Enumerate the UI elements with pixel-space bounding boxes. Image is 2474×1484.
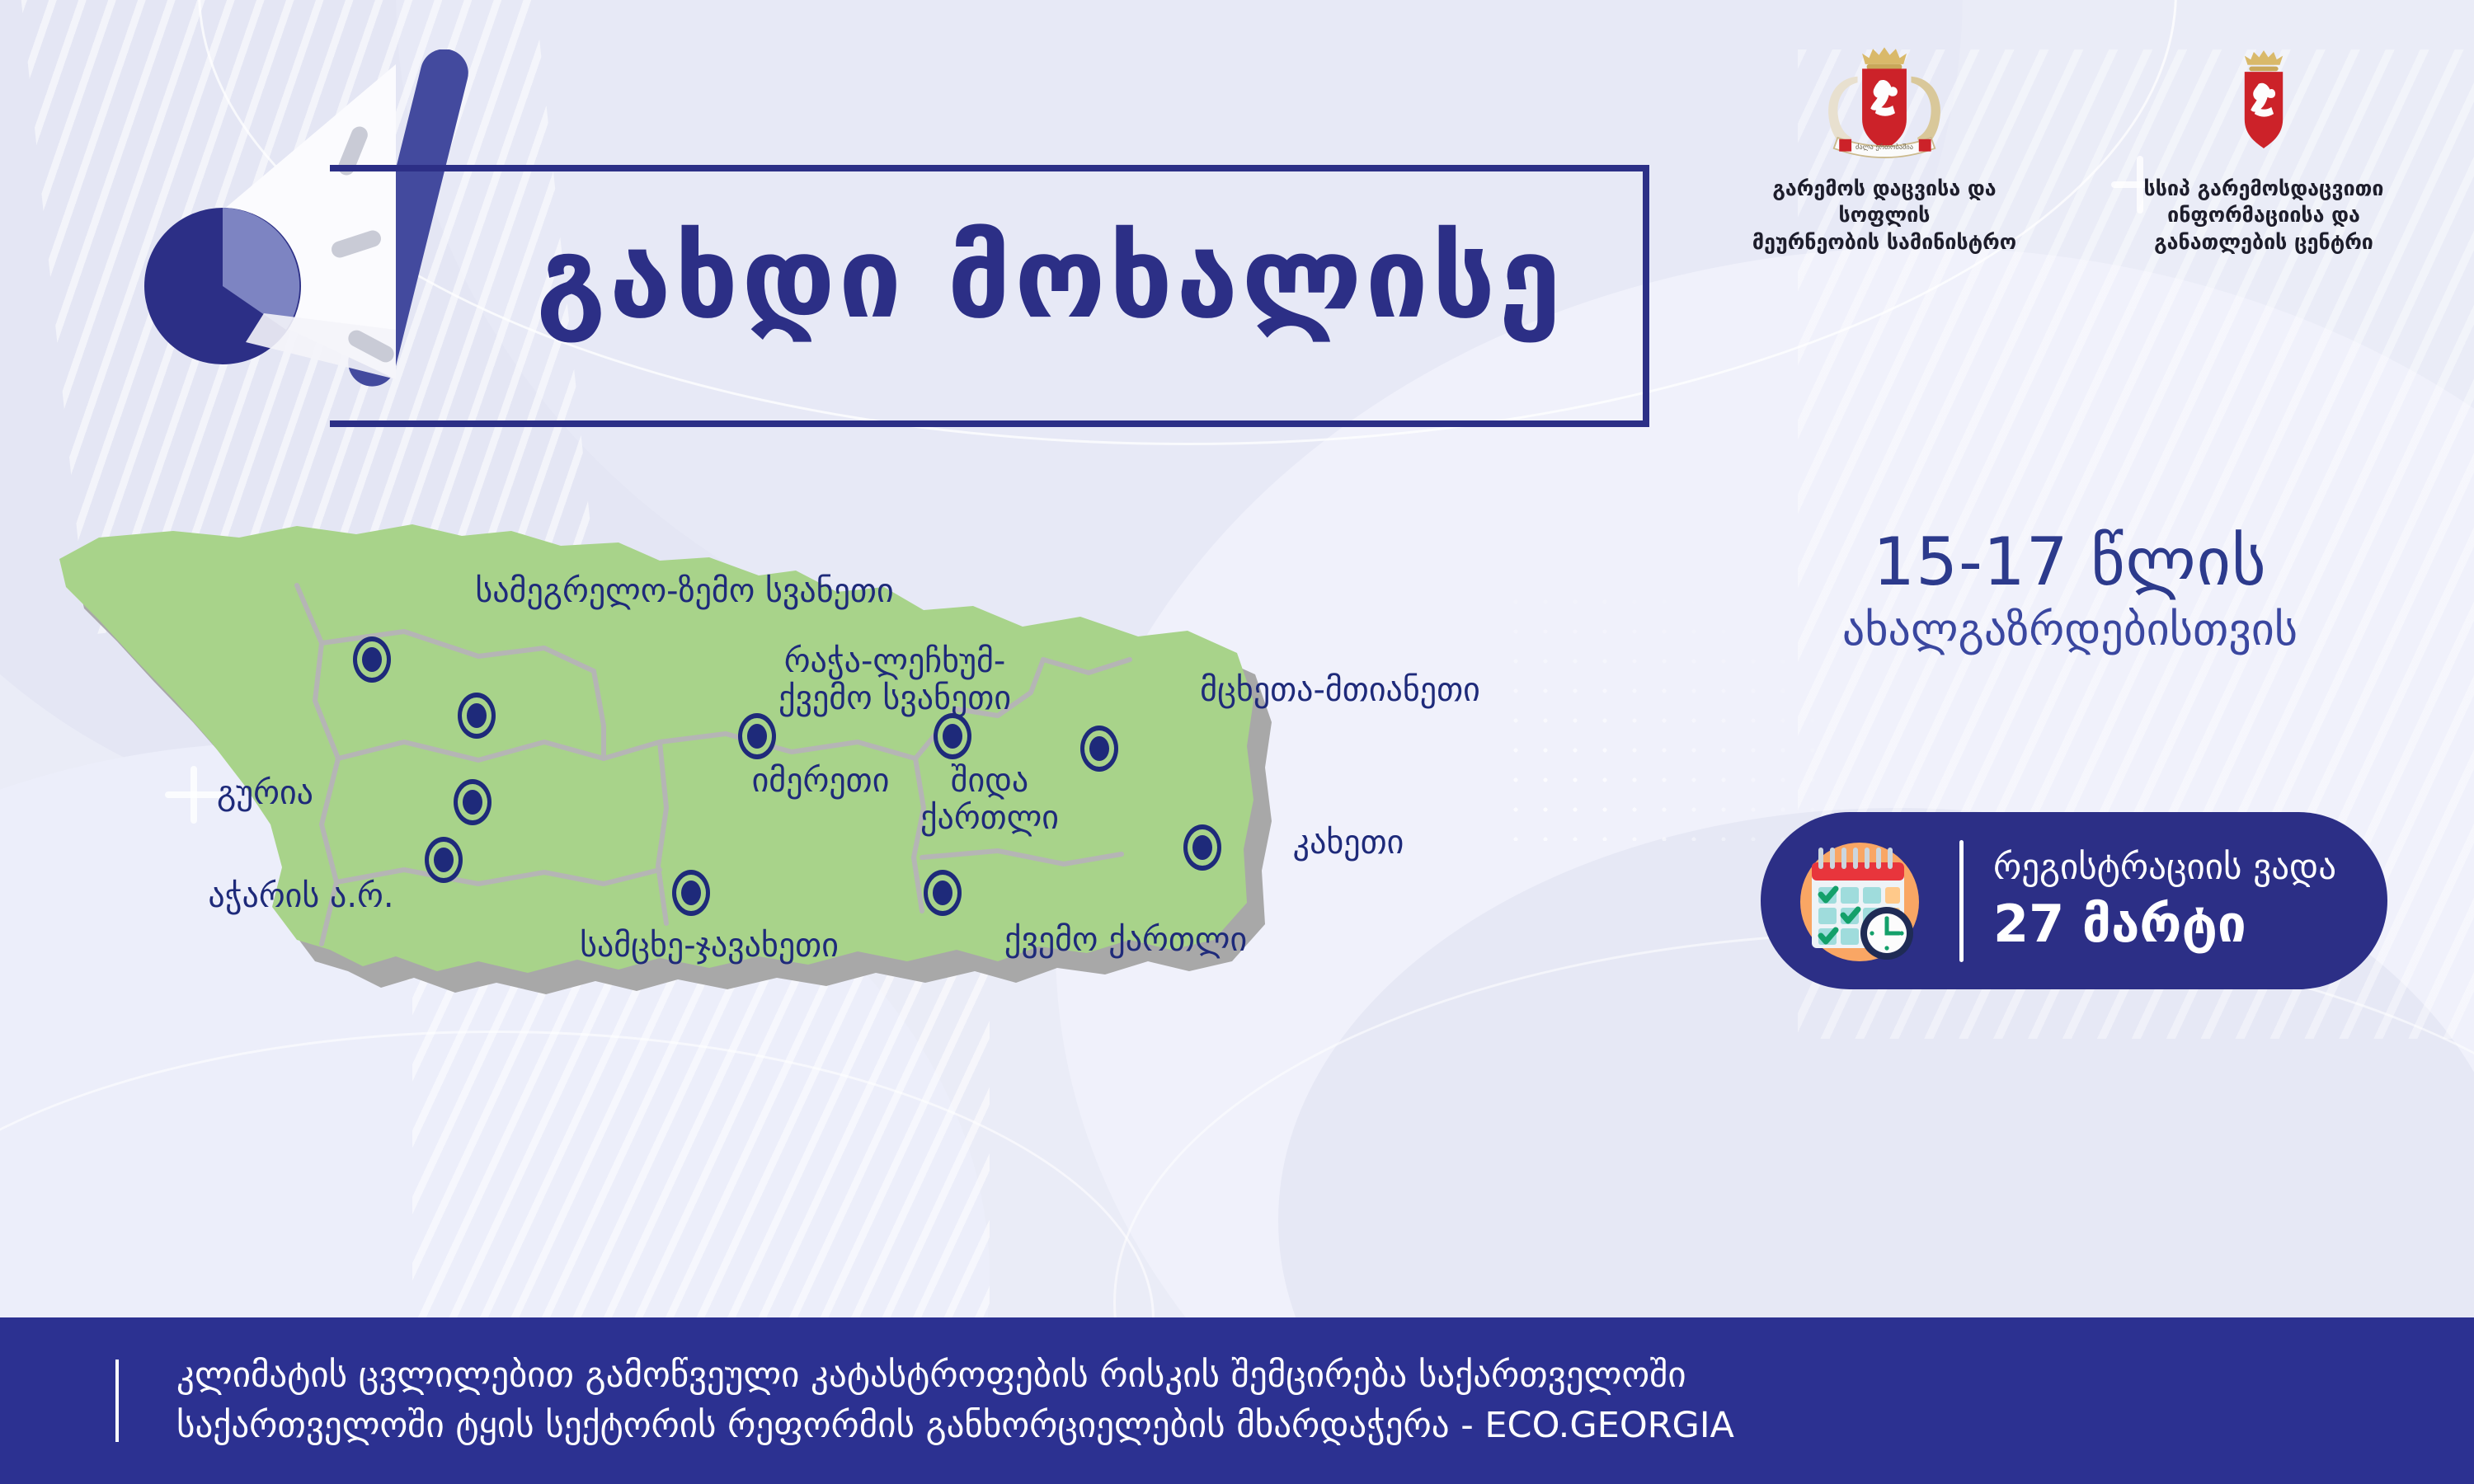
georgia-region-map: სამეგრელო-ზემო სვანეთი რაჭა-ლეჩხუმ- ქვემ… — [49, 495, 1740, 1237]
map-pin[interactable] — [738, 713, 776, 759]
title-rule-top — [330, 165, 1649, 171]
center-logo: სსიპ გარემოსდაცვითი ინფორმაციისა და განა… — [2128, 41, 2400, 256]
svg-text:ძალა ერთობაშია: ძალა ერთობაშია — [1855, 143, 1913, 151]
georgia-shield-emblem-icon — [2218, 41, 2309, 164]
map-pin[interactable] — [454, 779, 492, 825]
map-label-samegrelo-zemo-svaneti: სამეგრელო-ზემო სვანეთი — [396, 573, 973, 610]
deadline-label: რეგისტრაციის ვადა — [1993, 847, 2336, 890]
map-label-shida-kartli: შიდა ქართლი — [887, 763, 1093, 837]
center-logo-caption: სსიპ გარემოსდაცვითი ინფორმაციისა და განა… — [2144, 176, 2384, 256]
deadline-text-group: რეგისტრაციის ვადა 27 მარტი — [1993, 847, 2336, 956]
registration-deadline-badge: რეგისტრაციის ვადა 27 მარტი — [1761, 812, 2387, 989]
map-label-adjara: აჭარის ა.რ. — [173, 878, 429, 915]
map-pin[interactable] — [924, 870, 962, 916]
badge-divider — [1959, 840, 1964, 962]
footer-accent-bar — [115, 1360, 119, 1442]
map-pin[interactable] — [934, 713, 971, 759]
age-requirement-block: 15-17 წლის ახალგაზრდებისთვის — [1732, 528, 2408, 657]
map-pin[interactable] — [1080, 726, 1118, 772]
map-label-mtskheta-mtianeti: მცხეთა-მთიანეთი — [1097, 672, 1583, 709]
map-label-guria: გურია — [148, 775, 313, 812]
age-range-text: 15-17 წლის — [1732, 528, 2408, 597]
poster-canvas: გახდი მოხალისე ძალა ერთობაშია — [0, 0, 2474, 1484]
map-label-samtskhe-javakheti: სამცხე-ჯავახეთი — [499, 927, 920, 965]
map-label-racha-lechkhumi-kvemo-svaneti: რაჭა-ლეჩხუმ- ქვემო სვანეთი — [701, 643, 1089, 717]
title-rule-bottom — [330, 420, 1649, 427]
calendar-clock-icon — [1794, 833, 1930, 969]
title-rule-right — [1643, 165, 1649, 427]
georgia-coat-of-arms-icon: ძალა ერთობაშია — [1806, 41, 1963, 164]
ministry-logo-caption: გარემოს დაცვისა და სოფლის მეურნეობის სამ… — [1724, 176, 2045, 256]
map-pin[interactable] — [672, 870, 710, 916]
map-pin[interactable] — [1183, 824, 1221, 871]
page-title: გახდი მოხალისე — [536, 223, 1564, 335]
map-label-kakheti: კახეთი — [1245, 824, 1451, 862]
footer-banner: კლიმატის ცვლილებით გამოწვეული კატასტროფე… — [0, 1317, 2474, 1484]
logo-group: ძალა ერთობაშია გარემოს დაცვისა და სოფლის… — [1724, 41, 2433, 256]
deadline-date: 27 მარტი — [1993, 894, 2336, 955]
map-pin[interactable] — [458, 693, 496, 739]
age-audience-text: ახალგაზრდებისთვის — [1732, 603, 2408, 657]
title-frame: გახდი მოხალისე — [330, 165, 1649, 297]
map-label-kvemo-kartli: ქვემო ქართლი — [948, 922, 1303, 959]
footer-project-text: კლიმატის ცვლილებით გამოწვეული კატასტროფე… — [176, 1350, 1734, 1451]
ministry-logo: ძალა ერთობაშია გარემოს დაცვისა და სოფლის… — [1724, 41, 2045, 256]
map-pin[interactable] — [425, 837, 463, 883]
map-pin[interactable] — [353, 636, 391, 683]
